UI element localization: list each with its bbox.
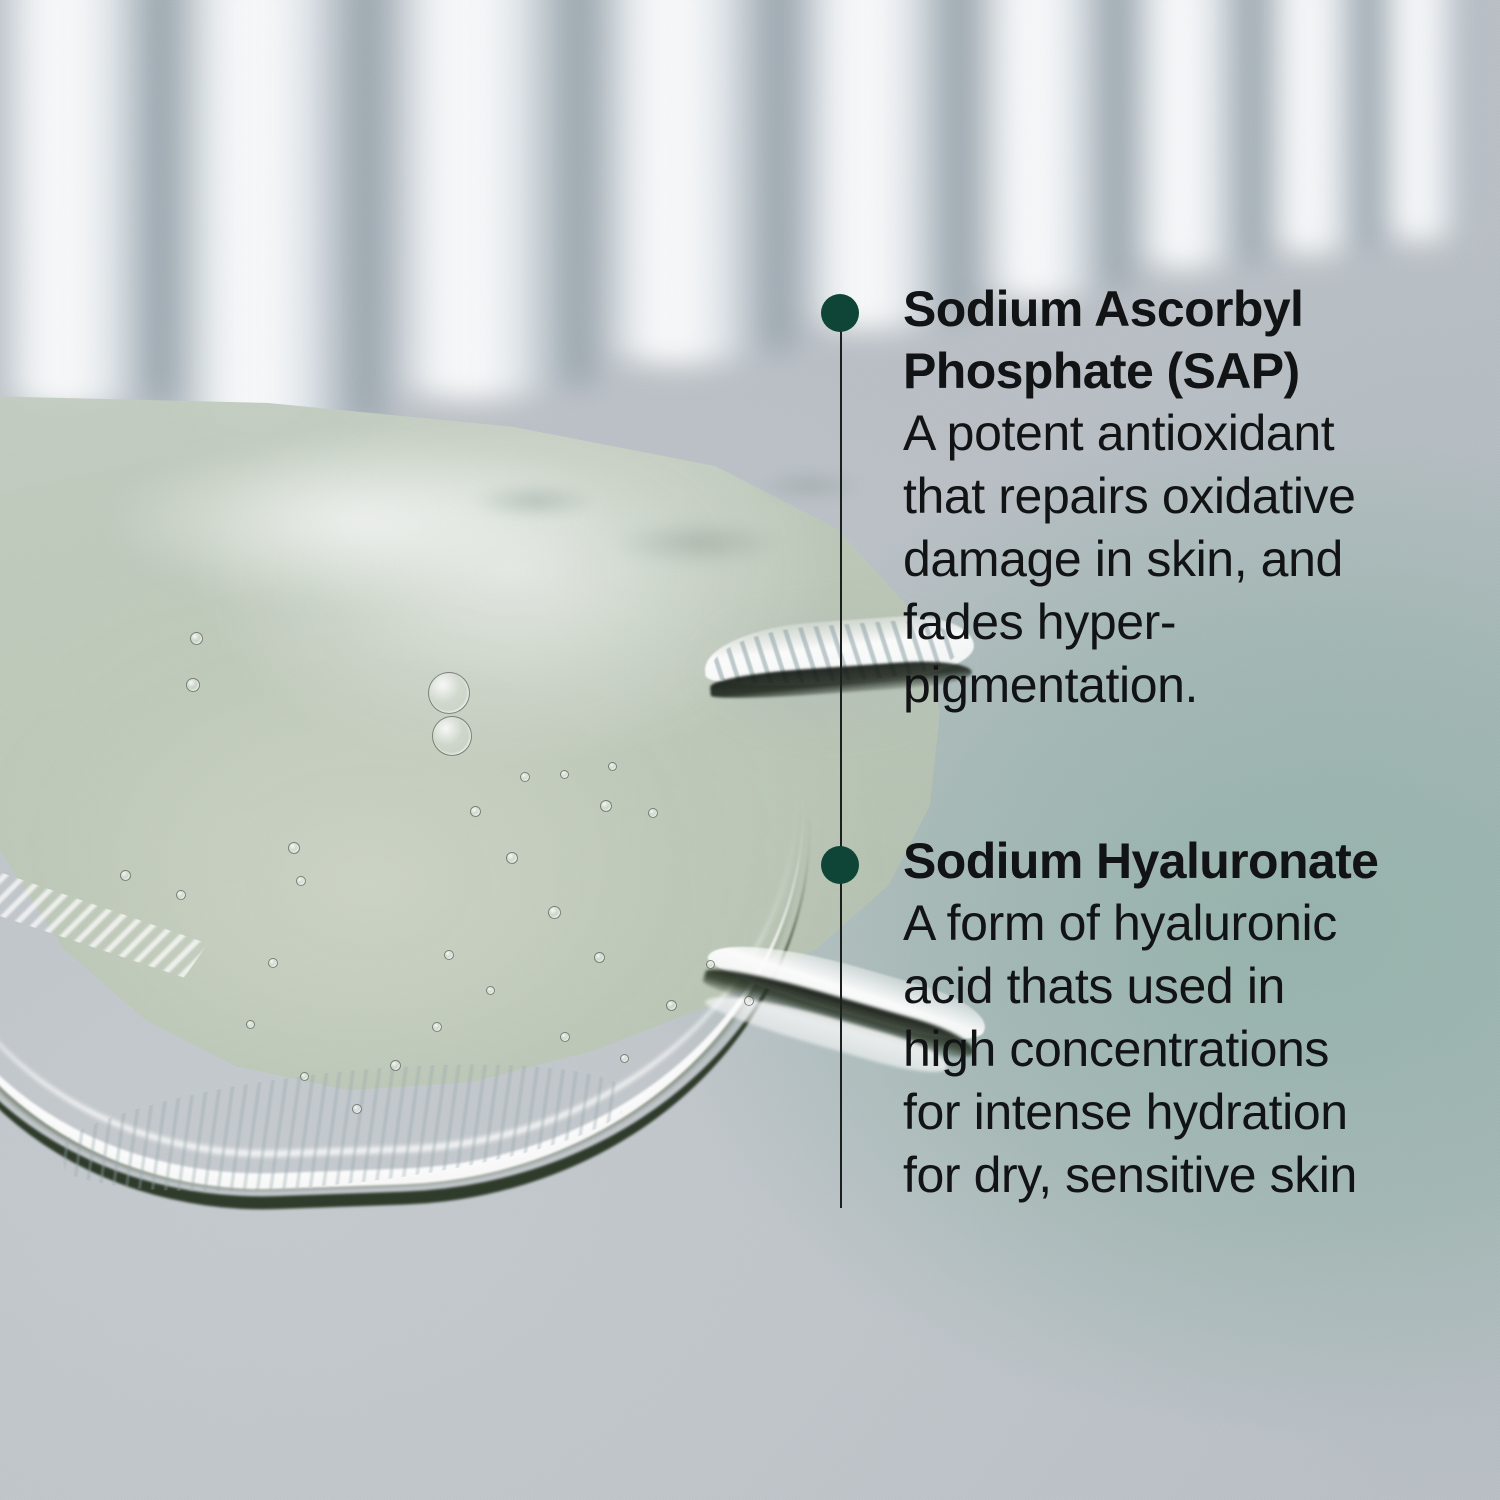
callout-heading: Sodium Ascorbyl Phosphate (SAP) [903, 278, 1443, 402]
bullet-dot-icon [821, 846, 859, 884]
bullet-dot-icon [821, 294, 859, 332]
product-ingredient-infographic: Sodium Ascorbyl Phosphate (SAP) A potent… [0, 0, 1500, 1500]
callout-sodium-ascorbyl-phosphate: Sodium Ascorbyl Phosphate (SAP) A potent… [903, 278, 1443, 717]
callout-connector-line [840, 330, 842, 1208]
callout-sodium-hyaluronate: Sodium Hyaluronate A form of hyaluronic … [903, 830, 1443, 1207]
callout-body: A potent antioxidant that repairs oxidat… [903, 402, 1443, 717]
callout-heading: Sodium Hyaluronate [903, 830, 1443, 892]
callout-body: A form of hyaluronic acid thats used in … [903, 892, 1443, 1207]
